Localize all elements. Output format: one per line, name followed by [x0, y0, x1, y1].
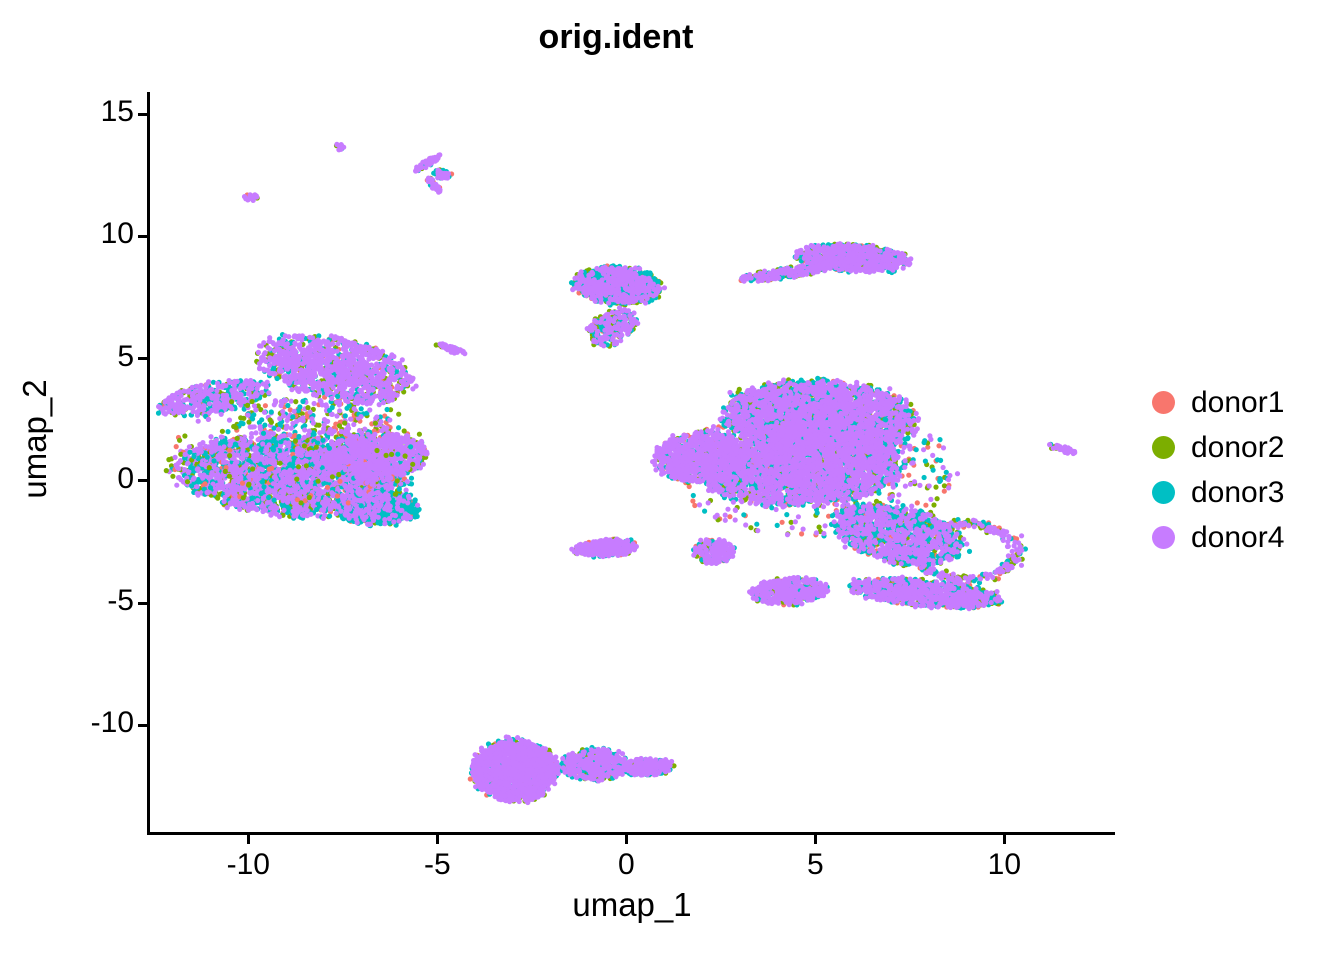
legend-item-label: donor1	[1191, 388, 1284, 418]
y-tick-label: -5	[107, 584, 134, 618]
y-tick-mark	[138, 724, 147, 727]
legend-item-donor1[interactable]: donor1	[1152, 380, 1342, 425]
y-axis-label: umap_2	[16, 349, 54, 529]
legend-item-donor2[interactable]: donor2	[1152, 425, 1342, 470]
page-title: orig.ident	[0, 18, 1232, 57]
legend-item-donor4[interactable]: donor4	[1152, 515, 1342, 560]
y-tick-label: 5	[117, 340, 134, 374]
x-tick-label: -5	[397, 848, 477, 882]
umap-scatter-plot: orig.ident 151050-5-10 -10-50510 umap_1 …	[0, 0, 1344, 960]
y-axis-line	[147, 92, 150, 835]
y-tick-mark	[138, 113, 147, 116]
y-tick-mark	[138, 602, 147, 605]
x-tick-mark	[247, 835, 250, 844]
x-tick-mark	[1003, 835, 1006, 844]
y-tick-mark	[138, 357, 147, 360]
scatter-series-donor4	[334, 142, 442, 194]
legend-item-label: donor4	[1191, 523, 1284, 553]
y-tick-label: -10	[91, 706, 134, 740]
y-tick-label: 0	[117, 462, 134, 496]
y-tick-mark	[138, 235, 147, 238]
scatter-series-donor2	[560, 476, 698, 775]
y-tick-label: 10	[101, 217, 134, 251]
x-tick-label: -10	[208, 848, 288, 882]
scatter-points-layer	[150, 92, 1114, 833]
y-tick-label: 15	[101, 95, 134, 129]
legend-swatch-icon	[1152, 391, 1175, 414]
x-tick-label: 10	[964, 848, 1044, 882]
x-axis-line	[147, 832, 1115, 835]
x-tick-mark	[625, 835, 628, 844]
x-tick-mark	[436, 835, 439, 844]
legend-item-label: donor2	[1191, 433, 1284, 463]
x-axis-label: umap_1	[150, 886, 1114, 924]
x-tick-label: 0	[586, 848, 666, 882]
y-tick-mark	[138, 479, 147, 482]
legend-item-label: donor3	[1191, 478, 1284, 508]
legend-item-donor3[interactable]: donor3	[1152, 470, 1342, 515]
x-tick-label: 5	[775, 848, 855, 882]
legend-swatch-icon	[1152, 526, 1175, 549]
x-tick-mark	[814, 835, 817, 844]
legend: donor1 donor2 donor3 donor4	[1152, 380, 1342, 560]
legend-swatch-icon	[1152, 481, 1175, 504]
legend-swatch-icon	[1152, 436, 1175, 459]
plot-panel	[150, 92, 1114, 833]
